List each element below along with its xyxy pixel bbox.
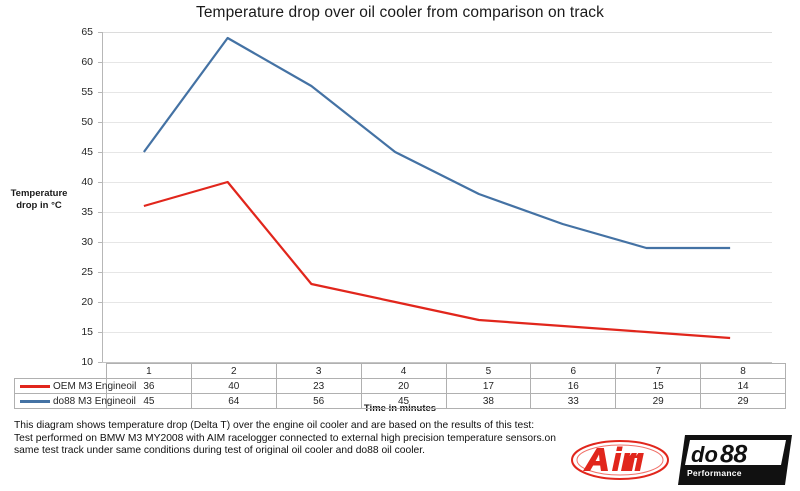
table-cell: 20 <box>361 379 446 394</box>
footer-note: This diagram shows temperature drop (Del… <box>14 420 574 458</box>
do88-logo: do 88 Performance <box>678 434 792 486</box>
table-cell: 16 <box>531 379 616 394</box>
legend-entry: do88 M3 Engineoil <box>15 395 104 408</box>
table-cell: 23 <box>276 379 361 394</box>
table-column-header: 4 <box>361 364 446 379</box>
y-axis-title: Temperature drop in °C <box>2 188 76 212</box>
footer-line-1: This diagram shows temperature drop (Del… <box>14 420 574 433</box>
table-cell: 29 <box>701 394 786 409</box>
chart-page: Temperature drop over oil cooler from co… <box>0 0 800 491</box>
y-axis-title-line1: Temperature <box>2 188 76 200</box>
y-tick-label: 25 <box>81 266 93 278</box>
table-cell: 45 <box>361 394 446 409</box>
y-tick-label: 65 <box>81 26 93 38</box>
y-tick-label: 15 <box>81 326 93 338</box>
footer-line-3: same test track under same conditions du… <box>14 445 574 458</box>
page-title: Temperature drop over oil cooler from co… <box>0 4 800 22</box>
table-cell: 64 <box>191 394 276 409</box>
svg-text:88: 88 <box>720 441 747 469</box>
legend-color-swatch <box>20 400 50 403</box>
y-tick-label: 50 <box>81 116 93 128</box>
legend-entry: OEM M3 Engineoil <box>15 380 104 393</box>
table-header-row: 12345678 <box>15 364 786 379</box>
y-tick-label: 40 <box>81 176 93 188</box>
table-cell: 38 <box>446 394 531 409</box>
table-row: OEM M3 Engineoil3640232017161514 <box>15 379 786 394</box>
y-tick-label: 35 <box>81 206 93 218</box>
table-cell: 14 <box>701 379 786 394</box>
table-cell: 17 <box>446 379 531 394</box>
table-column-header: 7 <box>616 364 701 379</box>
table-cell: 40 <box>191 379 276 394</box>
legend-label: OEM M3 Engineoil <box>53 380 136 393</box>
table-cell: 33 <box>531 394 616 409</box>
table-legend-cell: OEM M3 Engineoil <box>15 379 107 394</box>
table-cell: 15 <box>616 379 701 394</box>
table-column-header: 5 <box>446 364 531 379</box>
y-tick-label: 30 <box>81 236 93 248</box>
svg-text:do: do <box>691 442 718 467</box>
table-column-header: 8 <box>701 364 786 379</box>
series-line <box>144 38 730 248</box>
y-tick-label: 55 <box>81 86 93 98</box>
legend-label: do88 M3 Engineoil <box>53 395 136 408</box>
series-lines <box>102 32 772 362</box>
table-legend-cell: do88 M3 Engineoil <box>15 394 107 409</box>
plot-area: 101520253035404550556065 <box>102 32 772 362</box>
y-tick-label: 45 <box>81 146 93 158</box>
table-cell: 29 <box>616 394 701 409</box>
aim-logo: AiM <box>570 438 670 482</box>
table-row: do88 M3 Engineoil4564564538332929 <box>15 394 786 409</box>
data-table: 12345678OEM M3 Engineoil3640232017161514… <box>14 363 786 409</box>
table-column-header: 3 <box>276 364 361 379</box>
do88-logo-subtext: Performance <box>687 468 742 478</box>
table-corner-cell <box>15 364 107 379</box>
y-tick-label: 20 <box>81 296 93 308</box>
table-column-header: 6 <box>531 364 616 379</box>
table-column-header: 2 <box>191 364 276 379</box>
y-axis-title-line2: drop in °C <box>2 200 76 212</box>
table-column-header: 1 <box>107 364 192 379</box>
footer-line-2: Test performed on BMW M3 MY2008 with AIM… <box>14 433 574 446</box>
series-line <box>144 182 730 338</box>
y-tick-label: 60 <box>81 56 93 68</box>
logo-row: AiM do 88 Performance <box>570 432 792 488</box>
aim-logo-text: AiM <box>570 438 584 440</box>
table-cell: 56 <box>276 394 361 409</box>
legend-color-swatch <box>20 385 50 388</box>
